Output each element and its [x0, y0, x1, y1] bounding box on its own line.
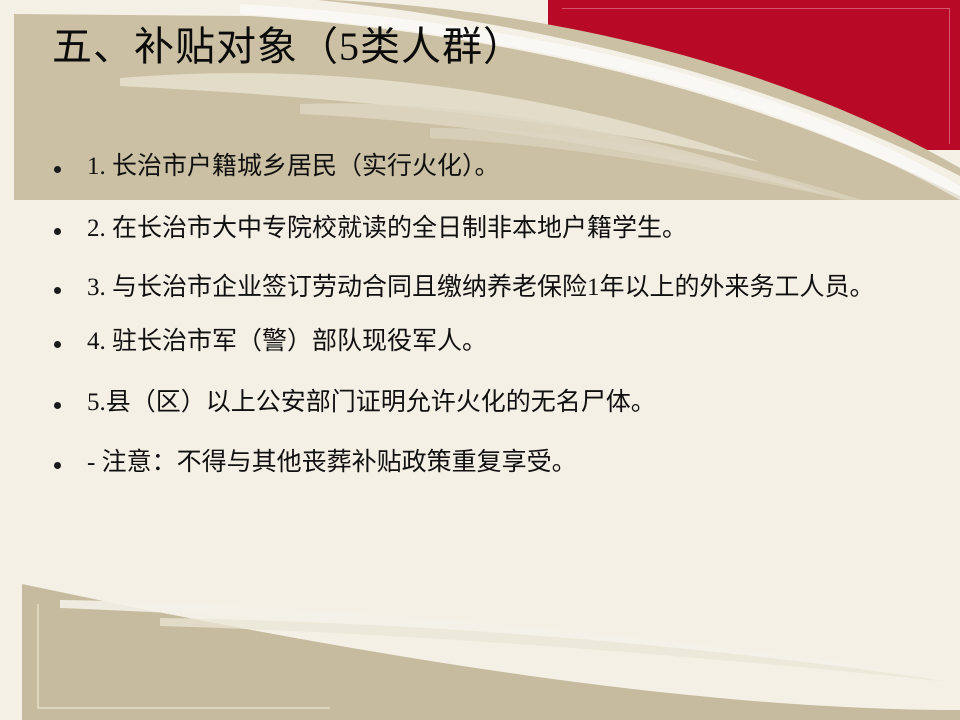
- list-item: 4. 驻长治市军（警）部队现役军人。: [42, 327, 932, 357]
- bullet-text: 2. 在长治市大中专院校就读的全日制非本地户籍学生。: [87, 214, 932, 244]
- bullet-dot-icon: [54, 341, 61, 348]
- slide-title: 五、补贴对象（5类人群）: [52, 22, 672, 72]
- bullet-dot-icon: [54, 166, 61, 173]
- bullet-text: 3. 与长治市企业签订劳动合同且缴纳养老保险1年以上的外来务工人员。: [87, 273, 932, 303]
- bullet-dot-icon: [54, 462, 61, 469]
- presentation-slide: 五、补贴对象（5类人群） 1. 长治市户籍城乡居民（实行火化）。 2. 在长治市…: [0, 0, 960, 720]
- list-item: 2. 在长治市大中专院校就读的全日制非本地户籍学生。: [42, 214, 932, 244]
- bullet-text: 1. 长治市户籍城乡居民（实行火化）。: [87, 152, 932, 182]
- bullet-dot-icon: [54, 402, 61, 409]
- footer-swoosh-decoration: [0, 560, 960, 720]
- list-item: 1. 长治市户籍城乡居民（实行火化）。: [42, 152, 932, 182]
- bullet-dot-icon: [54, 228, 61, 235]
- bullet-text: - 注意：不得与其他丧葬补贴政策重复享受。: [87, 448, 932, 478]
- bullet-text: 4. 驻长治市军（警）部队现役军人。: [87, 327, 932, 357]
- list-item: - 注意：不得与其他丧葬补贴政策重复享受。: [42, 448, 932, 478]
- bullet-dot-icon: [54, 287, 61, 294]
- list-item: 3. 与长治市企业签订劳动合同且缴纳养老保险1年以上的外来务工人员。: [42, 273, 932, 303]
- list-item: 5.县（区）以上公安部门证明允许火化的无名尸体。: [42, 388, 932, 418]
- bullet-text: 5.县（区）以上公安部门证明允许火化的无名尸体。: [87, 388, 932, 418]
- bullet-list: 1. 长治市户籍城乡居民（实行火化）。 2. 在长治市大中专院校就读的全日制非本…: [42, 152, 932, 477]
